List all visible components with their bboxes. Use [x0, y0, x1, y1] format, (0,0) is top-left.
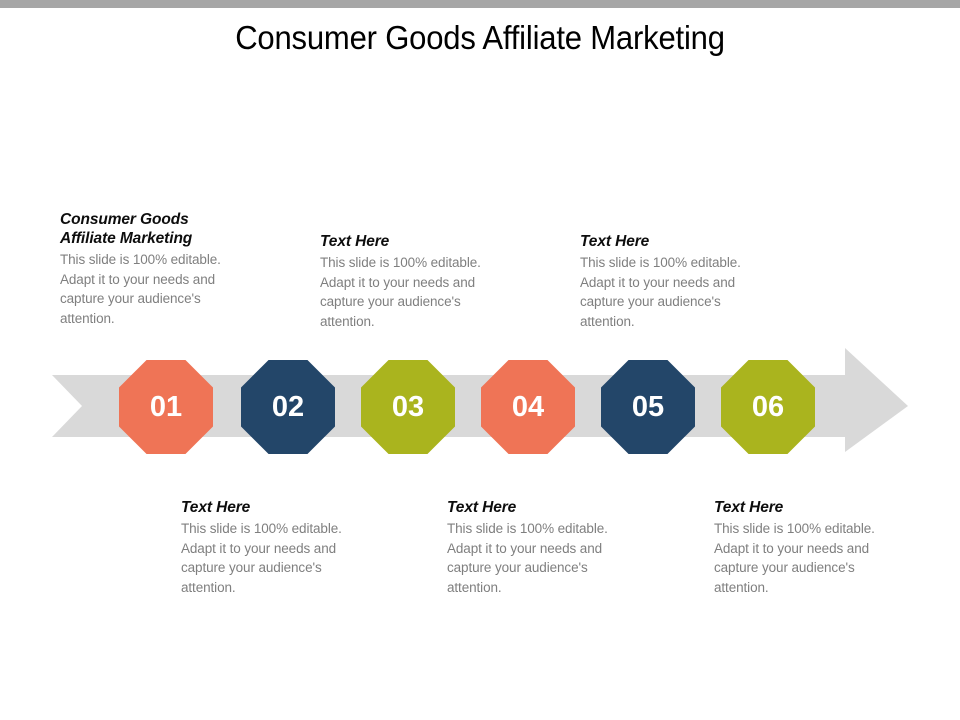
text-block-bottom-1-heading: Text Here: [181, 498, 361, 517]
text-block-top-2: Text Here This slide is 100% editable. A…: [320, 232, 500, 331]
text-block-bottom-2-body: This slide is 100% editable. Adapt it to…: [447, 519, 627, 597]
text-block-bottom-3-body: This slide is 100% editable. Adapt it to…: [714, 519, 894, 597]
top-accent-band: [0, 0, 960, 8]
text-block-top-1-heading: Consumer Goods Affiliate Marketing: [60, 210, 240, 248]
step-number-06: 06: [752, 393, 784, 422]
step-octagon-04[interactable]: 04: [481, 360, 575, 454]
text-block-top-2-heading: Text Here: [320, 232, 500, 251]
step-octagon-03[interactable]: 03: [361, 360, 455, 454]
step-number-01: 01: [150, 393, 182, 422]
text-block-top-1-body: This slide is 100% editable. Adapt it to…: [60, 250, 240, 328]
text-block-bottom-2-heading: Text Here: [447, 498, 627, 517]
text-block-bottom-2: Text Here This slide is 100% editable. A…: [447, 498, 627, 597]
text-block-top-2-body: This slide is 100% editable. Adapt it to…: [320, 253, 500, 331]
text-block-bottom-1-body: This slide is 100% editable. Adapt it to…: [181, 519, 361, 597]
text-block-bottom-1: Text Here This slide is 100% editable. A…: [181, 498, 361, 597]
step-octagon-02[interactable]: 02: [241, 360, 335, 454]
step-number-05: 05: [632, 393, 664, 422]
text-block-top-3-heading: Text Here: [580, 232, 760, 251]
step-octagon-06[interactable]: 06: [721, 360, 815, 454]
step-octagon-01[interactable]: 01: [119, 360, 213, 454]
text-block-bottom-3: Text Here This slide is 100% editable. A…: [714, 498, 894, 597]
text-block-top-3: Text Here This slide is 100% editable. A…: [580, 232, 760, 331]
text-block-top-3-body: This slide is 100% editable. Adapt it to…: [580, 253, 760, 331]
step-number-02: 02: [272, 393, 304, 422]
slide-canvas: Consumer Goods Affiliate Marketing 01 02…: [0, 0, 960, 720]
step-number-03: 03: [392, 393, 424, 422]
step-number-04: 04: [512, 393, 544, 422]
text-block-bottom-3-heading: Text Here: [714, 498, 894, 517]
step-octagon-05[interactable]: 05: [601, 360, 695, 454]
page-title: Consumer Goods Affiliate Marketing: [29, 19, 931, 57]
step-octagon-row: 01 02 03 04 05 06: [0, 360, 960, 454]
text-block-top-1: Consumer Goods Affiliate Marketing This …: [60, 210, 240, 328]
